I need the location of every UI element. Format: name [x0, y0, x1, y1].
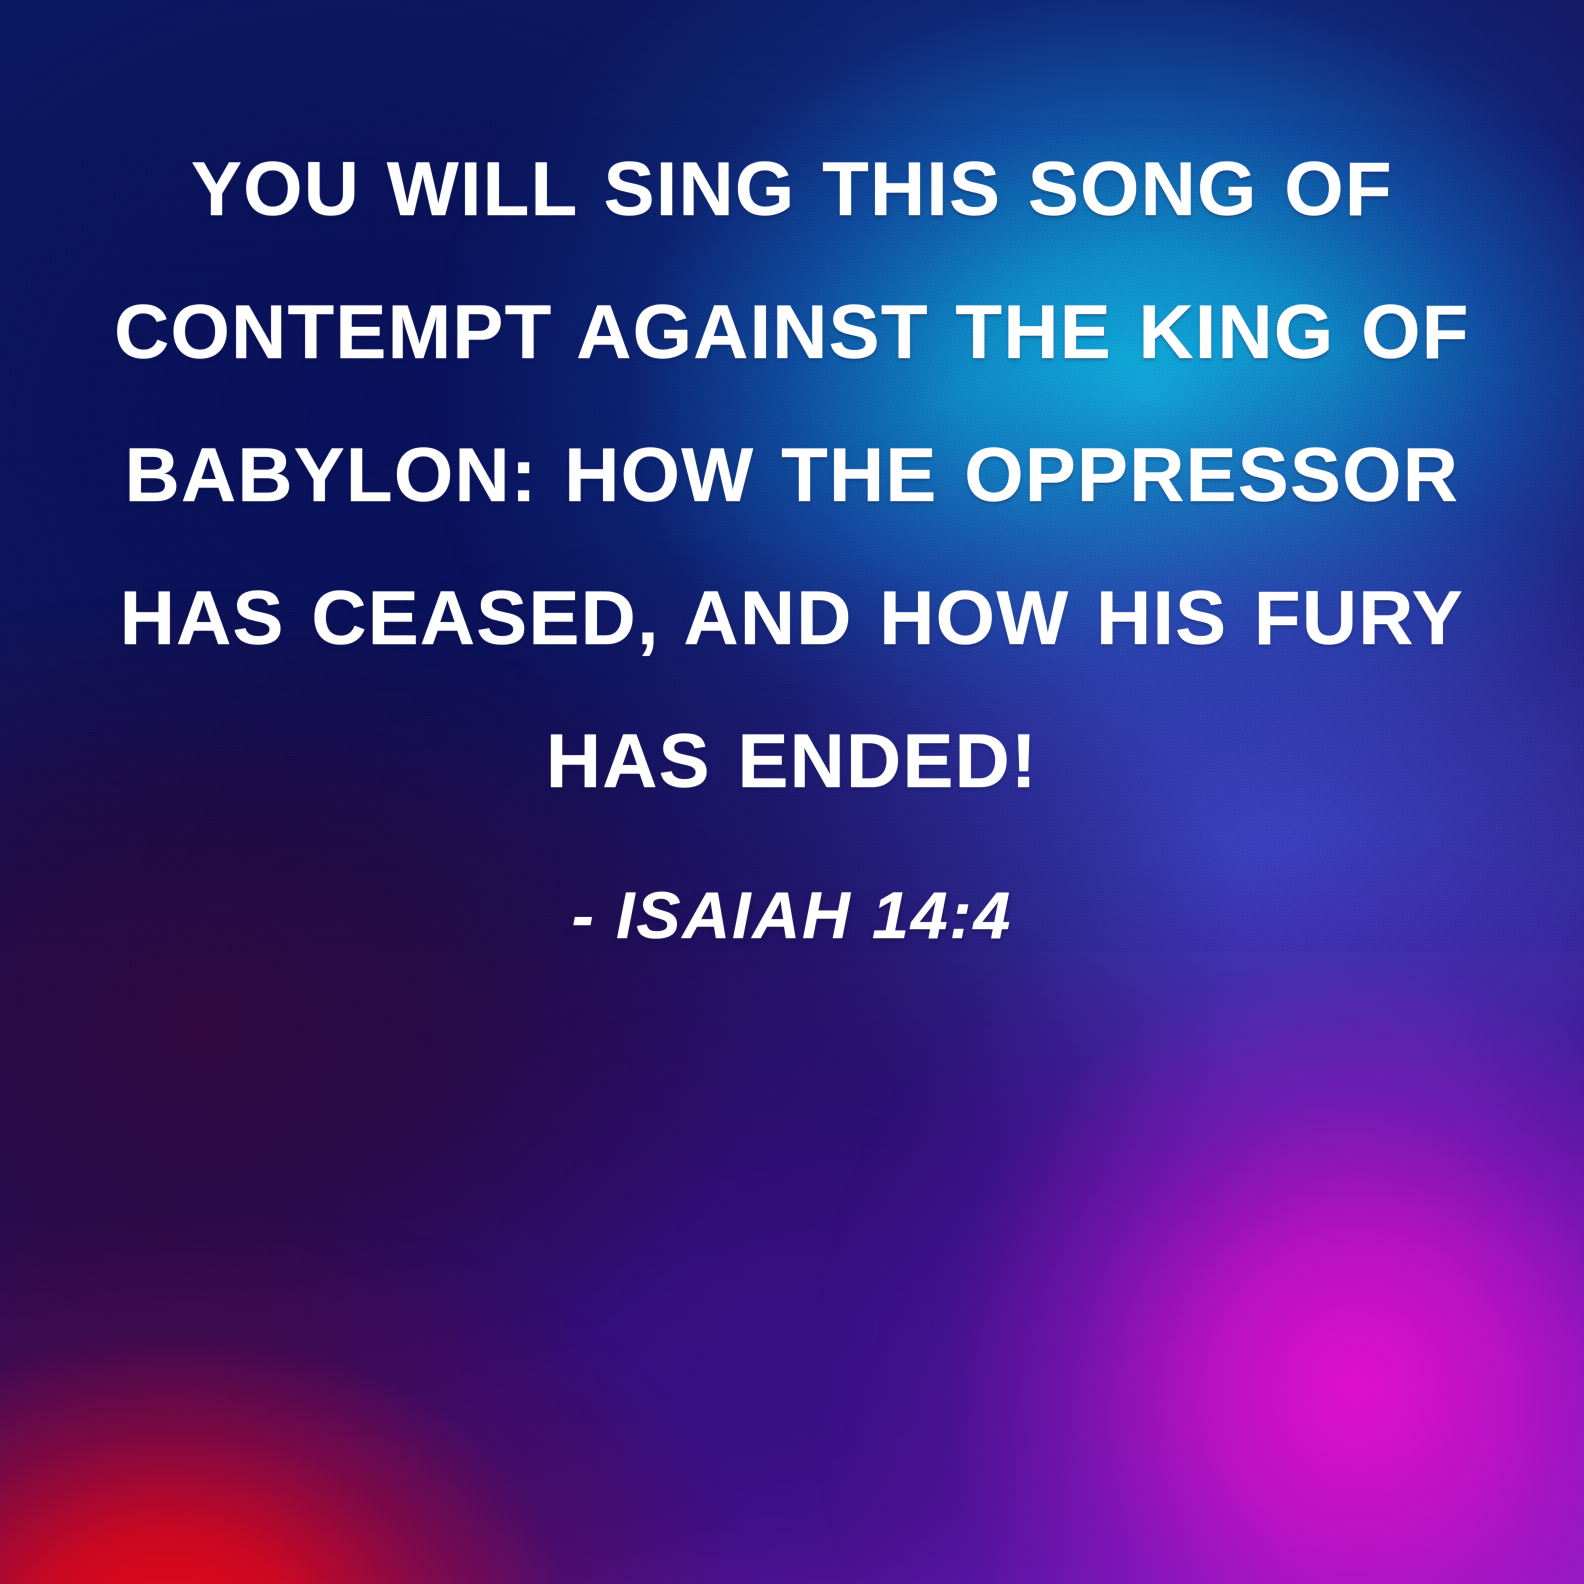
verse-line-3: Babylon: How the oppressor — [86, 404, 1498, 547]
verse-image-canvas: You will sing this song of contempt agai… — [0, 0, 1584, 1584]
verse-line-2: contempt against the king of — [86, 261, 1498, 404]
verse-block: You will sing this song of contempt agai… — [0, 118, 1584, 952]
scripture-citation: - Isaiah 14:4 — [572, 879, 1012, 952]
verse-line-4: has ceased, and how his fury — [86, 547, 1498, 690]
verse-line-5: has ended! — [86, 690, 1498, 833]
citation-block: - Isaiah 14:4 — [86, 879, 1498, 952]
verse-line-1: You will sing this song of — [86, 118, 1498, 261]
